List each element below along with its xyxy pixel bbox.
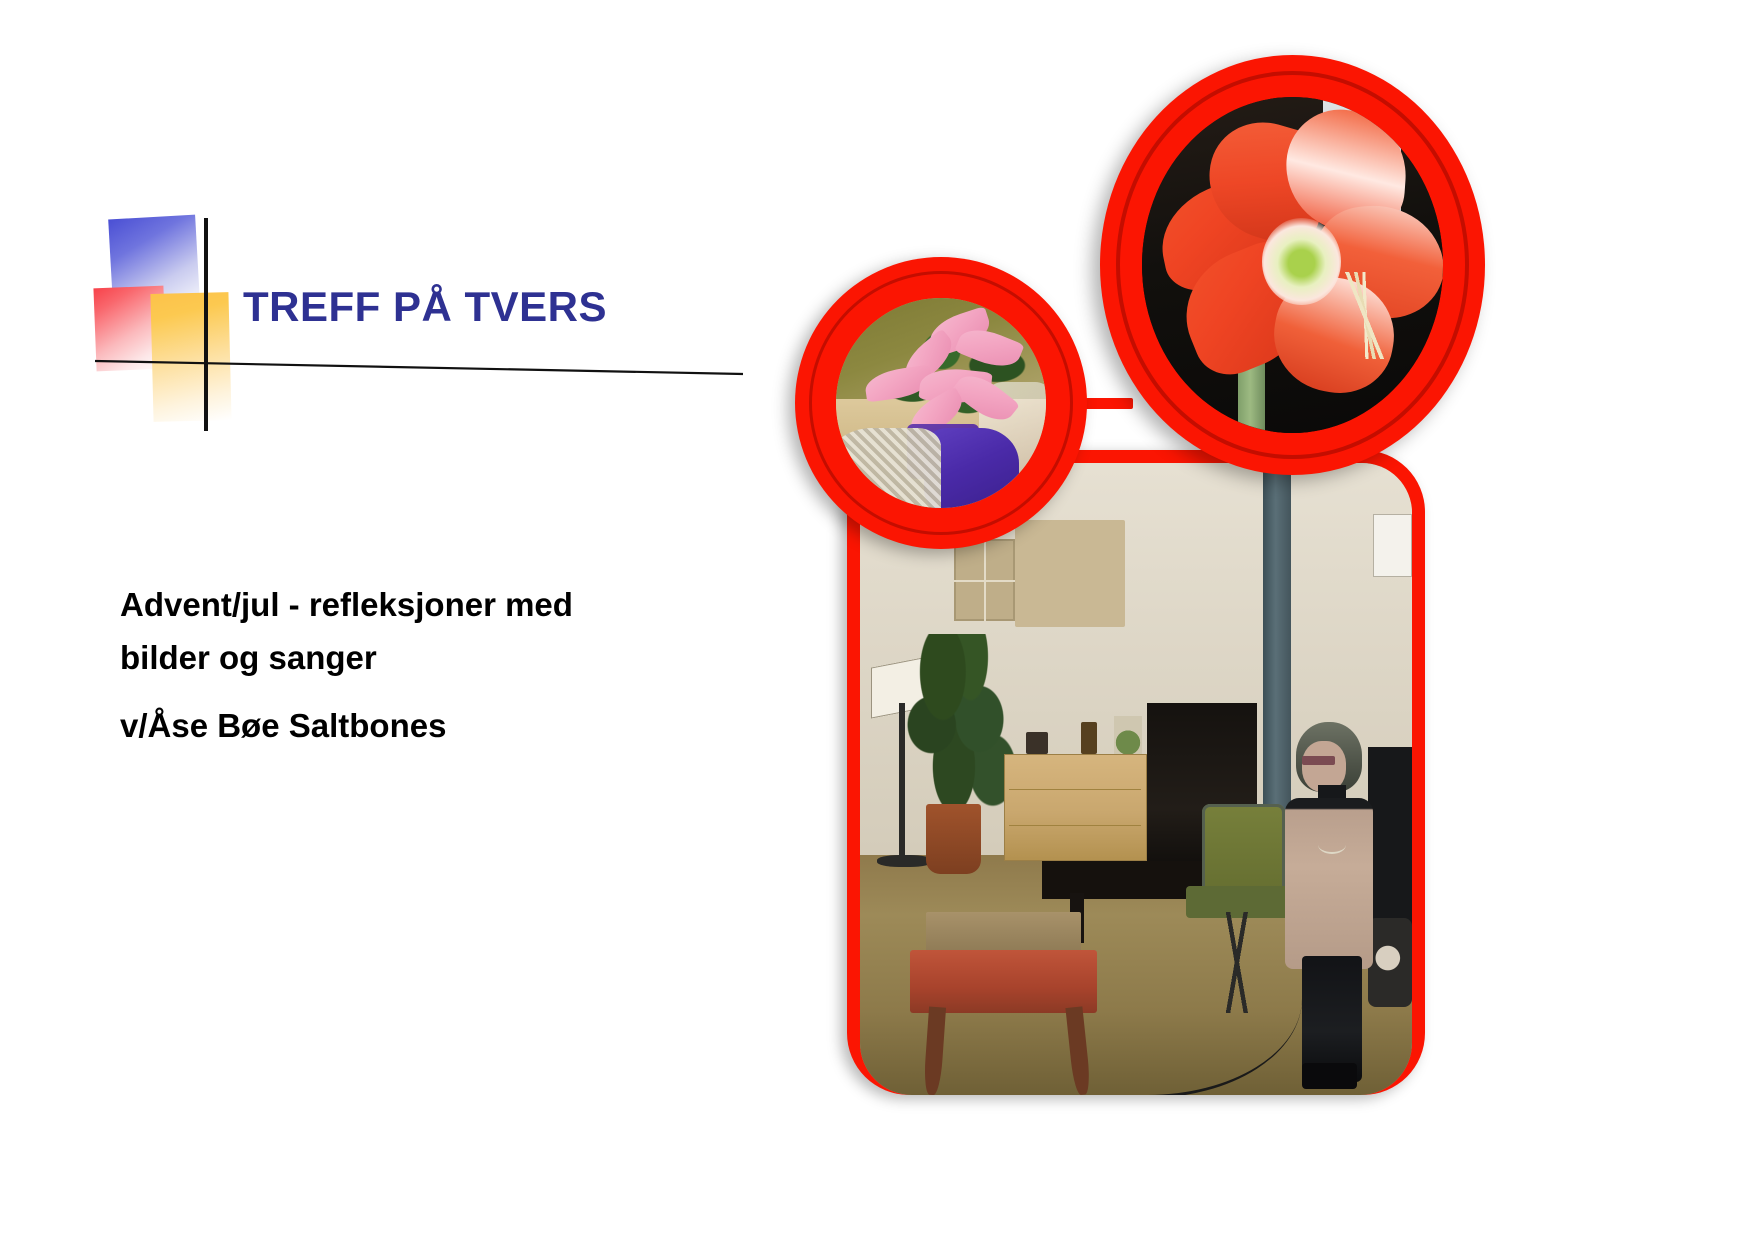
logo-horizontal-rule	[95, 357, 743, 573]
body-line-2: bilder og sanger	[120, 631, 740, 684]
green-chair-back	[1202, 804, 1285, 892]
potted-plant-leaves	[904, 634, 1014, 824]
cabinet-item-box	[1026, 732, 1048, 754]
logo-block: TREFF PÅ TVERS	[95, 205, 745, 435]
speaker-dress	[1285, 798, 1373, 969]
cable-reel	[1368, 918, 1412, 1006]
wall-panel	[1015, 520, 1125, 627]
body-copy-block: Advent/jul - refleksjoner med bilder og …	[120, 578, 740, 752]
body-line-1: Advent/jul - refleksjoner med	[120, 578, 740, 631]
speaker-glasses	[1302, 756, 1335, 765]
notice-board	[1373, 514, 1412, 577]
body-line-spacer	[120, 685, 740, 699]
wooden-cabinet	[1004, 754, 1148, 861]
photo-collage	[795, 55, 1485, 1065]
speaker-photo	[860, 463, 1412, 1095]
potted-plant-pot	[926, 804, 981, 874]
page-title: TREFF PÅ TVERS	[243, 283, 607, 331]
music-stand-base	[877, 855, 932, 868]
amaryllis-stamens	[1317, 272, 1419, 359]
wall-window-panel	[954, 539, 1015, 621]
piano-bench-seat	[910, 950, 1098, 1013]
wall-pillar	[1263, 463, 1291, 830]
slide-canvas: TREFF PÅ TVERS Advent/jul - refleksjoner…	[0, 0, 1754, 1240]
poinsettia-photo-frame	[795, 257, 1087, 549]
dark-equipment	[1368, 747, 1412, 937]
poinsettia-photo	[836, 298, 1046, 508]
amaryllis-photo	[1142, 97, 1443, 433]
woven-basket-texture	[836, 428, 941, 508]
amaryllis-photo-frame	[1100, 55, 1485, 475]
cabinet-item-vase	[1081, 722, 1098, 754]
speaker-shoe-sole	[1302, 1063, 1357, 1088]
speaker-face	[1302, 741, 1346, 792]
body-line-3: v/Åse Bøe Saltbones	[120, 699, 740, 752]
cabinet-item-plant	[1114, 716, 1142, 754]
